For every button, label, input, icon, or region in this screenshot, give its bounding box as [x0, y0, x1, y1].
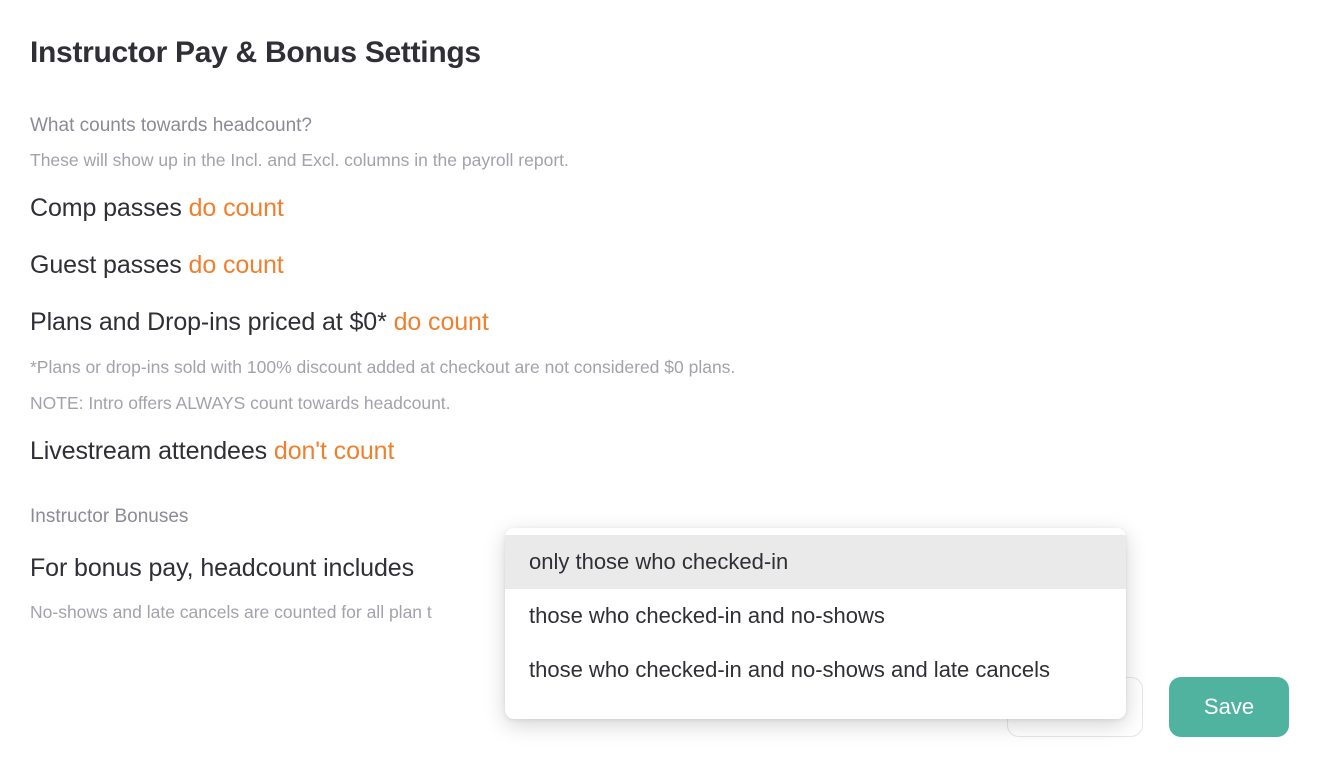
page-title: Instructor Pay & Bonus Settings — [30, 36, 481, 70]
livestream-attendees-value[interactable]: don't count — [274, 437, 394, 465]
bonus-section-label: Instructor Bonuses — [30, 506, 188, 528]
comp-passes-value[interactable]: do count — [189, 194, 284, 222]
setting-row-guest-passes: Guest passes do count — [30, 251, 284, 280]
zero-priced-plans-label: Plans and Drop-ins priced at $0* — [30, 308, 387, 336]
save-button[interactable]: Save — [1169, 677, 1289, 737]
headcount-section-label: What counts towards headcount? — [30, 115, 312, 137]
dropdown-option-checked-in-no-shows-late-cancels[interactable]: those who checked-in and no-shows and la… — [505, 643, 1126, 697]
dropdown-option-checked-in[interactable]: only those who checked-in — [505, 535, 1126, 589]
setting-row-comp-passes: Comp passes do count — [30, 194, 284, 223]
headcount-section-note: These will show up in the Incl. and Excl… — [30, 150, 569, 171]
bonus-section-note: No-shows and late cancels are counted fo… — [30, 602, 508, 623]
setting-row-livestream-attendees: Livestream attendees don't count — [30, 437, 394, 466]
dropdown-option-checked-in-no-shows[interactable]: those who checked-in and no-shows — [505, 589, 1126, 643]
comp-passes-label: Comp passes — [30, 194, 182, 222]
intro-offers-note: NOTE: Intro offers ALWAYS count towards … — [30, 393, 451, 414]
bonus-headcount-dropdown-menu: only those who checked-in those who chec… — [505, 528, 1126, 719]
settings-page: Instructor Pay & Bonus Settings What cou… — [0, 0, 1326, 780]
livestream-attendees-label: Livestream attendees — [30, 437, 267, 465]
guest-passes-label: Guest passes — [30, 251, 182, 279]
setting-row-zero-priced-plans: Plans and Drop-ins priced at $0* do coun… — [30, 308, 489, 337]
bonus-headcount-label: For bonus pay, headcount includes — [30, 554, 414, 582]
zero-priced-plans-value[interactable]: do count — [394, 308, 489, 336]
guest-passes-value[interactable]: do count — [189, 251, 284, 279]
zero-plans-footnote: *Plans or drop-ins sold with 100% discou… — [30, 357, 735, 378]
setting-row-bonus-headcount: For bonus pay, headcount includes — [30, 554, 414, 583]
